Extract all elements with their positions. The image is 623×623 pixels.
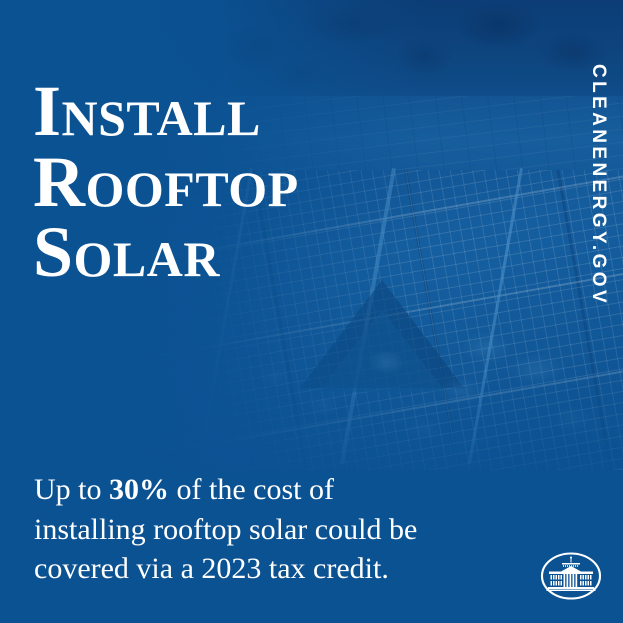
body-copy: Up to 30% of the cost of installing roof… [34,470,504,589]
body-line-1-prefix: Up to [34,473,109,506]
headline-line-2: Rooftop [33,147,463,218]
body-line-3: covered via a 2023 tax credit. [34,549,504,589]
highlight-percentage: 30% [109,473,169,506]
white-house-seal-icon [540,550,602,602]
body-line-2: installing rooftop solar could be [34,510,504,550]
headline-line-3: Solar [33,217,463,288]
body-line-1: Up to 30% of the cost of [34,470,504,510]
body-line-1-suffix: of the cost of [169,473,334,506]
page-title: Install Rooftop Solar [33,76,463,288]
headline-line-1: Install [33,76,463,147]
poster-canvas: Install Rooftop Solar CLEANENERGY.GOV Up… [0,0,623,623]
vertical-website-url[interactable]: CLEANENERGY.GOV [581,36,615,336]
vertical-website-url-label: CLEANENERGY.GOV [587,64,609,306]
